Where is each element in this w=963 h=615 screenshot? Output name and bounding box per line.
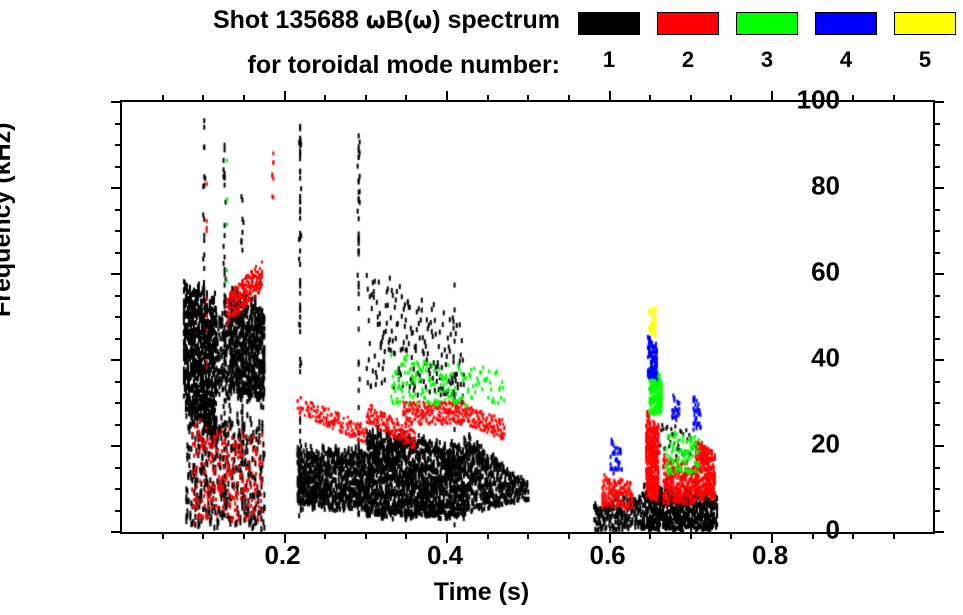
y-tick-minor-right-50: [933, 316, 940, 318]
y-tick-major-0: [111, 531, 122, 533]
x-tick-minor-top-0.15: [243, 95, 245, 102]
x-tick-minor-0.35: [405, 532, 407, 539]
x-tick-major-top-0.6: [609, 91, 611, 102]
y-tick-minor-50: [115, 316, 122, 318]
omega-symbol-1: ω: [366, 8, 386, 34]
y-tick-minor-right-45: [933, 338, 940, 340]
x-tick-label-0.2: 0.2: [264, 540, 300, 571]
y-tick-major-right-20: [933, 445, 944, 447]
x-tick-minor-0.9: [852, 532, 854, 539]
x-tick-minor-0.15: [243, 532, 245, 539]
legend-swatch-2: [657, 12, 719, 35]
x-tick-minor-top-0.75: [730, 95, 732, 102]
x-tick-minor-top-0.3: [365, 95, 367, 102]
y-axis-title: Frequency (kHz): [0, 123, 17, 317]
plot-frame: [120, 100, 935, 534]
y-tick-major-80: [111, 187, 122, 189]
y-tick-minor-35: [115, 381, 122, 383]
y-tick-major-right-80: [933, 187, 944, 189]
y-tick-minor-right-85: [933, 166, 940, 168]
y-tick-minor-right-5: [933, 510, 940, 512]
legend-label-1: 1: [578, 47, 640, 73]
y-tick-major-100: [111, 101, 122, 103]
x-tick-minor-top-0.1: [202, 95, 204, 102]
spectrogram-figure: Shot 135688 ωB(ω) spectrum for toroidal …: [0, 0, 963, 615]
legend: 12345: [578, 12, 956, 73]
y-tick-major-60: [111, 273, 122, 275]
y-tick-major-40: [111, 359, 122, 361]
x-tick-major-top-0.4: [446, 91, 448, 102]
title-shot-text: Shot 135688: [213, 6, 366, 34]
y-tick-minor-right-10: [933, 488, 940, 490]
y-tick-major-right-0: [933, 531, 944, 533]
legend-label-4: 4: [815, 47, 877, 73]
y-tick-label-80: 80: [811, 171, 840, 202]
y-tick-label-60: 60: [811, 257, 840, 288]
y-tick-minor-15: [115, 467, 122, 469]
y-tick-minor-85: [115, 166, 122, 168]
x-tick-label-0.6: 0.6: [589, 540, 625, 571]
y-tick-minor-90: [115, 144, 122, 146]
legend-label-row: 12345: [578, 47, 956, 73]
x-tick-minor-top-0.95: [893, 95, 895, 102]
x-tick-major-top-0.2: [284, 91, 286, 102]
y-tick-minor-right-70: [933, 230, 940, 232]
y-tick-label-0: 0: [826, 515, 840, 546]
x-tick-minor-0.55: [568, 532, 570, 539]
spectrogram-canvas: [122, 102, 933, 532]
y-tick-minor-right-65: [933, 252, 940, 254]
figure-title-line-2: for toroidal mode number:: [0, 53, 560, 78]
x-tick-minor-top-0.65: [649, 95, 651, 102]
x-tick-minor-top-0.45: [487, 95, 489, 102]
y-tick-minor-right-95: [933, 123, 940, 125]
y-tick-minor-right-30: [933, 402, 940, 404]
x-tick-label-0.4: 0.4: [427, 540, 463, 571]
y-tick-label-20: 20: [811, 429, 840, 460]
y-tick-major-right-100: [933, 101, 944, 103]
y-tick-minor-45: [115, 338, 122, 340]
x-tick-minor-0.7: [690, 532, 692, 539]
y-tick-major-20: [111, 445, 122, 447]
y-tick-label-40: 40: [811, 343, 840, 374]
y-tick-minor-30: [115, 402, 122, 404]
x-tick-minor-0.5: [527, 532, 529, 539]
x-tick-minor-0.3: [365, 532, 367, 539]
y-tick-minor-right-15: [933, 467, 940, 469]
legend-label-2: 2: [657, 47, 719, 73]
y-tick-minor-right-75: [933, 209, 940, 211]
omega-symbol-2: ω: [412, 8, 432, 34]
legend-swatch-1: [578, 12, 640, 35]
x-tick-minor-0.85: [812, 532, 814, 539]
title-b-text: B(: [386, 6, 412, 34]
legend-label-5: 5: [894, 47, 956, 73]
y-tick-minor-25: [115, 424, 122, 426]
y-tick-minor-55: [115, 295, 122, 297]
y-tick-minor-right-25: [933, 424, 940, 426]
x-tick-minor-0.65: [649, 532, 651, 539]
y-tick-major-right-60: [933, 273, 944, 275]
y-tick-minor-right-90: [933, 144, 940, 146]
x-tick-minor-top-0.9: [852, 95, 854, 102]
x-tick-minor-0.25: [324, 532, 326, 539]
legend-swatch-4: [815, 12, 877, 35]
figure-title-line-1: Shot 135688 ωB(ω) spectrum: [0, 8, 560, 33]
x-tick-minor-top-0.05: [162, 95, 164, 102]
x-tick-minor-0.95: [893, 532, 895, 539]
x-tick-minor-0.05: [162, 532, 164, 539]
legend-swatch-3: [736, 12, 798, 35]
x-tick-label-0.8: 0.8: [752, 540, 788, 571]
y-tick-minor-70: [115, 230, 122, 232]
legend-label-3: 3: [736, 47, 798, 73]
y-tick-minor-right-55: [933, 295, 940, 297]
y-tick-minor-right-35: [933, 381, 940, 383]
x-tick-minor-top-0.7: [690, 95, 692, 102]
y-tick-minor-10: [115, 488, 122, 490]
x-tick-minor-0.45: [487, 532, 489, 539]
x-tick-minor-top-0.5: [527, 95, 529, 102]
x-axis-title: Time (s): [0, 578, 963, 607]
x-tick-minor-top-0.55: [568, 95, 570, 102]
legend-swatch-row: [578, 12, 956, 35]
legend-swatch-5: [894, 12, 956, 35]
x-tick-major-top-0.8: [771, 91, 773, 102]
title-spectrum-text: ) spectrum: [432, 6, 560, 34]
x-tick-minor-0.75: [730, 532, 732, 539]
y-tick-minor-95: [115, 123, 122, 125]
y-tick-minor-65: [115, 252, 122, 254]
y-tick-label-100: 100: [797, 85, 840, 116]
y-tick-major-right-40: [933, 359, 944, 361]
x-tick-minor-top-0.25: [324, 95, 326, 102]
x-tick-minor-0.1: [202, 532, 204, 539]
y-tick-minor-75: [115, 209, 122, 211]
x-tick-minor-top-0.35: [405, 95, 407, 102]
y-tick-minor-5: [115, 510, 122, 512]
